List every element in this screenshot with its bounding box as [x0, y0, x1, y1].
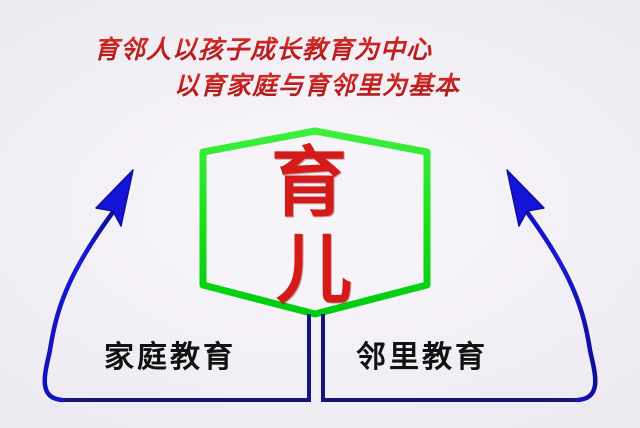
branch-label-family-education: 家庭教育	[104, 332, 236, 376]
branch-label-neighborhood-education: 邻里教育	[356, 332, 488, 376]
center-char-bottom: 儿	[276, 232, 352, 308]
center-char-top: 育	[271, 145, 347, 221]
arrowhead-left	[96, 170, 133, 226]
arrowhead-right	[507, 170, 544, 226]
title-line-2: 以育家庭与育邻里为基本	[174, 66, 460, 102]
title-line-1: 育邻人以孩子成长教育为中心	[94, 30, 432, 66]
arrow-shaft-right	[527, 212, 595, 400]
diagram-canvas: 育邻人以孩子成长教育为中心 以育家庭与育邻里为基本 育 儿 家庭教育 邻里教育	[0, 0, 640, 428]
arrow-shaft-left	[45, 212, 113, 400]
